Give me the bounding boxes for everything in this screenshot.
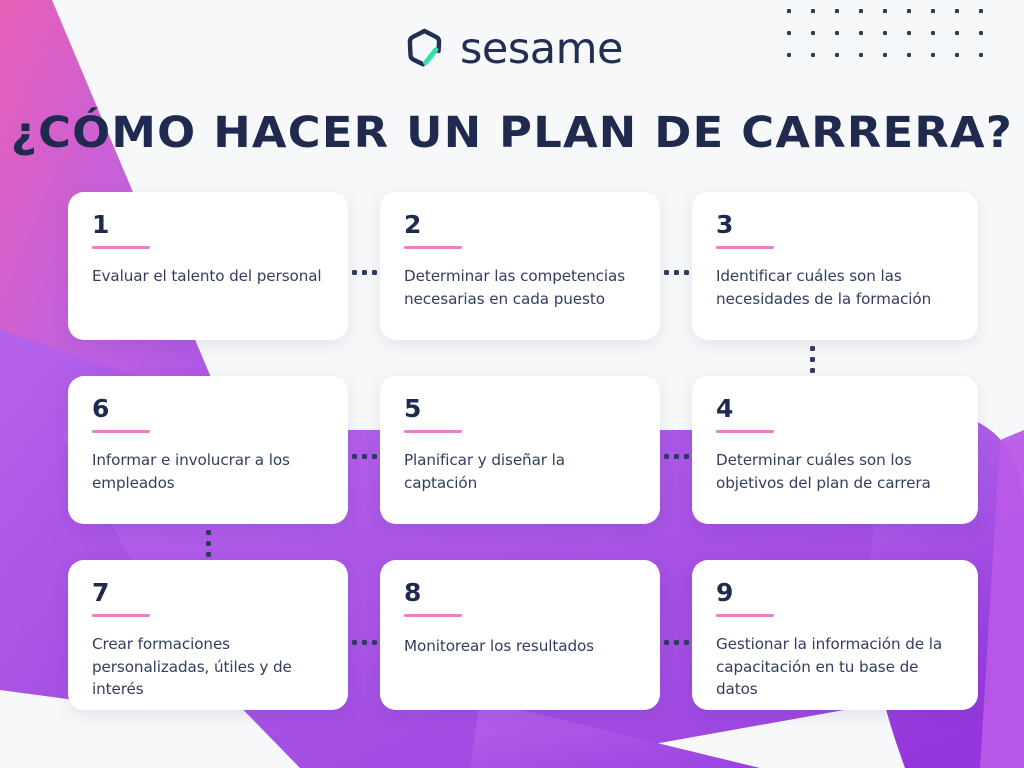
step-text: Planificar y diseñar la captación [404,449,638,494]
step-number: 7 [92,580,326,605]
connector-dot [352,454,357,459]
connector-dot [372,454,377,459]
step-number: 5 [404,396,638,421]
connector-4-to-5 [664,454,688,459]
step-rule [92,614,150,617]
step-card-1[interactable]: 1 Evaluar el talento del personal [68,192,348,340]
connector-dot [684,640,689,645]
connector-dot [206,541,211,546]
step-number: 2 [404,212,638,237]
step-number: 6 [92,396,326,421]
sesame-hexagon-logo-icon [401,26,447,72]
step-card-2[interactable]: 2 Determinar las competencias necesarias… [380,192,660,340]
connector-dot [372,640,377,645]
step-rule [92,246,150,249]
connector-dot [352,640,357,645]
step-rule [404,614,462,617]
steps-grid: 1 Evaluar el talento del personal 2 Dete… [68,192,978,724]
step-card-3[interactable]: 3 Identificar cuáles son las necesidades… [692,192,978,340]
connector-dot [362,454,367,459]
connector-8-to-9 [664,640,688,645]
connector-dot [206,552,211,557]
brand-logo: sesame [0,26,1024,72]
step-text: Crear formaciones personalizadas, útiles… [92,633,326,701]
connector-5-to-6 [352,454,376,459]
connector-3-to-4 [810,346,815,372]
connector-dot [664,640,669,645]
infographic-canvas: sesame ¿CÓMO HACER UN PLAN DE CARRERA? 1… [0,0,1024,768]
connector-dot [810,368,815,373]
step-rule [716,246,774,249]
step-text: Determinar las competencias necesarias e… [404,265,638,310]
connector-1-to-2 [352,270,376,275]
step-rule [404,430,462,433]
connector-dot [810,346,815,351]
brand-name: sesame [460,28,623,71]
page-title: ¿CÓMO HACER UN PLAN DE CARRERA? [0,108,1024,158]
connector-2-to-3 [664,270,688,275]
step-number: 3 [716,212,956,237]
connector-dot [674,270,679,275]
step-text: Informar e involucrar a los empleados [92,449,326,494]
connector-dot [684,270,689,275]
connector-dot [664,454,669,459]
step-text: Gestionar la información de la capacitac… [716,633,956,701]
step-number: 4 [716,396,956,421]
step-rule [404,246,462,249]
connector-dot [372,270,377,275]
connector-dot [362,640,367,645]
step-number: 1 [92,212,326,237]
step-text: Monitorear los resultados [404,635,638,658]
connector-dot [664,270,669,275]
connector-dot [352,270,357,275]
step-number: 9 [716,580,956,605]
connector-dot [684,454,689,459]
step-text: Identificar cuáles son las necesidades d… [716,265,956,310]
step-card-7[interactable]: 7 Crear formaciones personalizadas, útil… [68,560,348,710]
step-card-5[interactable]: 5 Planificar y diseñar la captación [380,376,660,524]
step-text: Determinar cuáles son los objetivos del … [716,449,956,494]
step-rule [716,430,774,433]
step-number: 8 [404,580,638,605]
connector-dot [810,357,815,362]
step-card-6[interactable]: 6 Informar e involucrar a los empleados [68,376,348,524]
step-rule [92,430,150,433]
connector-dot [674,640,679,645]
step-card-8[interactable]: 8 Monitorear los resultados [380,560,660,710]
connector-dot [206,530,211,535]
connector-7-to-8 [352,640,376,645]
step-card-9[interactable]: 9 Gestionar la información de la capacit… [692,560,978,710]
step-rule [716,614,774,617]
connector-6-to-7 [206,530,211,556]
connector-dot [362,270,367,275]
step-card-4[interactable]: 4 Determinar cuáles son los objetivos de… [692,376,978,524]
connector-dot [674,454,679,459]
step-text: Evaluar el talento del personal [92,265,326,288]
